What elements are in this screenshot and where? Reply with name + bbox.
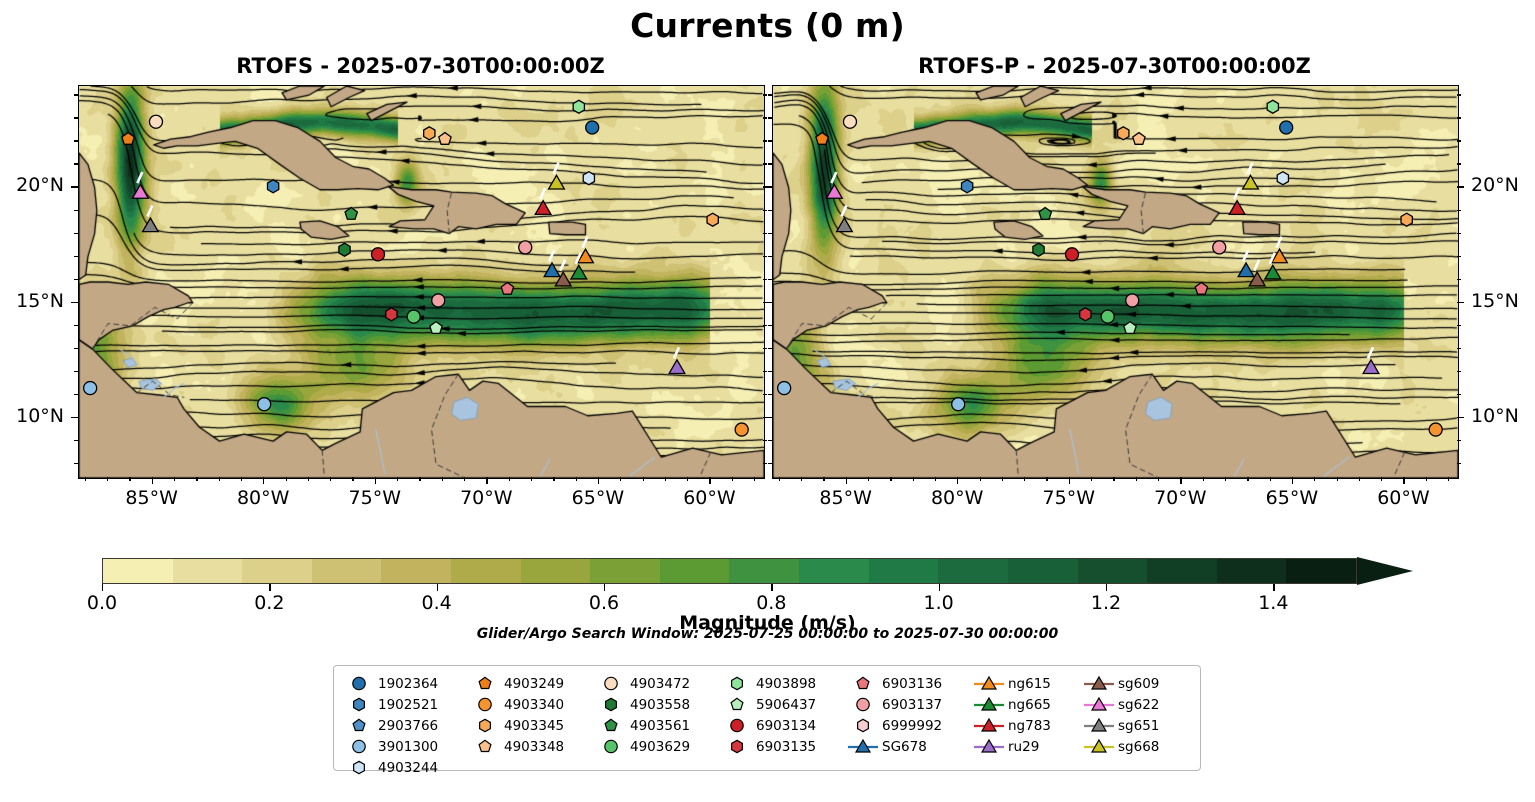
argo-marker-icon bbox=[468, 715, 502, 736]
legend-label: sg622 bbox=[1116, 697, 1159, 713]
glider-track bbox=[1368, 347, 1373, 358]
legend-column-0: 19023641902521290376639013004903244 bbox=[342, 673, 468, 778]
y-tick-minor bbox=[71, 302, 78, 303]
argo-marker-icon bbox=[342, 736, 376, 757]
colorbar-band-9 bbox=[729, 559, 799, 583]
legend-item-6999992[interactable]: 6999992 bbox=[846, 715, 972, 736]
y-tick-minor bbox=[768, 256, 772, 257]
argo-marker-icon bbox=[342, 757, 376, 778]
x-tick-minor bbox=[1203, 477, 1204, 481]
y-tick-minor bbox=[768, 348, 772, 349]
map-marker-sg651[interactable] bbox=[837, 206, 853, 232]
map-marker-ru29[interactable] bbox=[1363, 347, 1379, 373]
x-tick-label: 70°W bbox=[1135, 487, 1225, 509]
map-marker-1902364[interactable] bbox=[586, 121, 599, 134]
y-tick-minor bbox=[74, 117, 78, 118]
y-tick-minor bbox=[1457, 417, 1464, 418]
legend-label: 6903136 bbox=[880, 676, 942, 692]
x-tick-minor bbox=[219, 477, 220, 481]
map-marker-6903136[interactable] bbox=[1195, 282, 1207, 294]
x-tick-label: 70°W bbox=[441, 487, 531, 509]
y-tick-minor bbox=[765, 302, 772, 303]
argo-marker-icon bbox=[468, 736, 502, 757]
y-tick-minor bbox=[1457, 394, 1461, 395]
y-tick-minor bbox=[74, 463, 78, 464]
legend-item-6903134[interactable]: 6903134 bbox=[720, 715, 846, 736]
x-tick-label: 85°W bbox=[801, 487, 891, 509]
colorbar-band-2 bbox=[242, 559, 312, 583]
y-tick-minor bbox=[763, 163, 767, 164]
map-marker-4903561[interactable] bbox=[1039, 207, 1051, 219]
colorbar-band-17 bbox=[1286, 559, 1356, 583]
legend-label: 4903629 bbox=[628, 739, 690, 755]
x-tick-minor bbox=[1136, 477, 1137, 481]
legend-label: 5906437 bbox=[754, 697, 816, 713]
map-marker-6903134[interactable] bbox=[1065, 248, 1078, 261]
colorbar-tick bbox=[1106, 584, 1107, 591]
map-marker-1902521[interactable] bbox=[267, 180, 278, 193]
map-marker-4903340[interactable] bbox=[735, 423, 748, 436]
colorbar-tick-label: 0.0 bbox=[57, 592, 147, 614]
legend-item-4903340[interactable]: 4903340 bbox=[468, 694, 594, 715]
glider-track bbox=[540, 188, 545, 199]
x-tick-minor bbox=[1002, 477, 1003, 481]
legend-label: 4903558 bbox=[628, 697, 690, 713]
colorbar-band-5 bbox=[451, 559, 521, 583]
map-marker-4903249[interactable] bbox=[816, 133, 828, 145]
glider-track bbox=[1243, 250, 1248, 261]
legend-item-4903249[interactable]: 4903249 bbox=[468, 673, 594, 694]
x-tick-minor bbox=[352, 477, 353, 481]
legend-label: sg668 bbox=[1116, 739, 1159, 755]
x-tick-minor bbox=[1426, 477, 1427, 481]
map-marker-sg668[interactable] bbox=[549, 163, 565, 189]
y-tick-minor bbox=[1457, 186, 1464, 187]
x-tick-minor bbox=[397, 477, 398, 481]
map-marker-4903244[interactable] bbox=[583, 172, 594, 185]
glider-track bbox=[1254, 260, 1259, 271]
x-tick-minor bbox=[732, 477, 733, 481]
y-tick-label: 20°N bbox=[1471, 174, 1535, 196]
y-tick-minor bbox=[763, 94, 767, 95]
y-tick-minor bbox=[763, 256, 767, 257]
y-tick-minor bbox=[74, 440, 78, 441]
map-marker-5906437[interactable] bbox=[430, 322, 442, 334]
x-tick-minor bbox=[308, 477, 309, 481]
glider-track bbox=[674, 347, 679, 358]
x-tick-minor bbox=[330, 477, 331, 481]
x-tick-minor bbox=[980, 477, 981, 481]
argo-marker-icon bbox=[342, 694, 376, 715]
y-tick-minor bbox=[763, 394, 767, 395]
colorbar-tick-label: 0.2 bbox=[224, 592, 314, 614]
x-tick-minor bbox=[913, 477, 914, 481]
legend-item-4903898[interactable]: 4903898 bbox=[720, 673, 846, 694]
y-tick-minor bbox=[763, 210, 767, 211]
y-tick-minor bbox=[1457, 210, 1461, 211]
map-marker-6903135[interactable] bbox=[1080, 308, 1091, 321]
x-tick-minor bbox=[464, 477, 465, 481]
x-tick-minor bbox=[85, 477, 86, 481]
map-marker-ng783[interactable] bbox=[1229, 188, 1245, 214]
y-tick-minor bbox=[74, 325, 78, 326]
legend-label: 4903472 bbox=[628, 676, 690, 692]
glider-marker-icon bbox=[972, 694, 1006, 715]
x-tick-minor bbox=[375, 477, 376, 484]
legend-label: ng615 bbox=[1006, 676, 1051, 692]
y-tick-minor bbox=[768, 94, 772, 95]
legend-label: ru29 bbox=[1006, 739, 1039, 755]
map-marker-4903345[interactable] bbox=[1118, 127, 1129, 140]
colorbar-band-12 bbox=[938, 559, 1008, 583]
colorbar-tick bbox=[1273, 584, 1274, 591]
x-tick-minor bbox=[935, 477, 936, 481]
legend-label: 2903766 bbox=[376, 718, 438, 734]
y-tick-label: 20°N bbox=[0, 174, 64, 196]
y-tick-minor bbox=[1457, 325, 1461, 326]
map-marker-4903249[interactable] bbox=[122, 133, 134, 145]
x-tick-minor bbox=[1113, 477, 1114, 481]
legend-item-ru29[interactable]: ru29 bbox=[972, 736, 1082, 757]
x-tick-minor bbox=[1069, 477, 1070, 484]
map-marker-ru29[interactable] bbox=[669, 347, 685, 373]
map-marker-sg622[interactable] bbox=[826, 172, 842, 198]
y-tick-minor bbox=[1457, 348, 1461, 349]
y-tick-minor bbox=[74, 163, 78, 164]
legend-label: 6903135 bbox=[754, 739, 816, 755]
legend-item-4903472[interactable]: 4903472 bbox=[594, 673, 720, 694]
argo-marker-icon bbox=[594, 694, 628, 715]
legend-label: 4903561 bbox=[628, 718, 690, 734]
argo-marker-icon bbox=[594, 736, 628, 757]
legend-column-2: 4903472490355849035614903629 bbox=[594, 673, 720, 778]
map-marker-4903348[interactable] bbox=[439, 133, 451, 145]
map-marker-4903244[interactable] bbox=[1277, 172, 1288, 185]
y-tick-minor bbox=[768, 233, 772, 234]
glider-marker-icon bbox=[1082, 715, 1116, 736]
legend-label: 4903249 bbox=[502, 676, 564, 692]
y-tick-minor bbox=[1457, 371, 1461, 372]
map-marker-6903137b[interactable] bbox=[1126, 294, 1139, 307]
legend-label: 4903348 bbox=[502, 739, 564, 755]
x-tick-minor bbox=[643, 477, 644, 481]
map-marker-4903898[interactable] bbox=[573, 100, 584, 113]
y-tick-minor bbox=[763, 325, 767, 326]
x-tick-minor bbox=[553, 477, 554, 481]
legend-label: sg651 bbox=[1116, 718, 1159, 734]
legend-column-5: ng615ng665ng783ru29 bbox=[972, 673, 1082, 778]
x-tick-minor bbox=[509, 477, 510, 481]
y-tick-minor bbox=[763, 117, 767, 118]
colorbar-tick bbox=[771, 584, 772, 591]
x-tick-minor bbox=[1247, 477, 1248, 481]
y-tick-minor bbox=[1457, 140, 1461, 141]
legend-column-4: 690313669031376999992SG678 bbox=[846, 673, 972, 778]
y-tick-minor bbox=[763, 463, 767, 464]
map-marker-4903340[interactable] bbox=[1429, 423, 1442, 436]
y-tick-minor bbox=[763, 140, 767, 141]
colorbar-tick-label: 0.6 bbox=[559, 592, 649, 614]
colorbar-tick-label: 1.2 bbox=[1061, 592, 1151, 614]
colorbar-tick bbox=[269, 584, 270, 591]
map-marker-1902521[interactable] bbox=[961, 180, 972, 193]
map-marker-4903345b[interactable] bbox=[707, 213, 718, 226]
glider-track bbox=[582, 237, 587, 248]
legend-item-6903136[interactable]: 6903136 bbox=[846, 673, 972, 694]
x-tick-label: 60°W bbox=[1358, 487, 1448, 509]
x-tick-minor bbox=[620, 477, 621, 481]
y-tick-minor bbox=[768, 440, 772, 441]
glider-marker-icon bbox=[1082, 736, 1116, 757]
y-tick-minor bbox=[768, 163, 772, 164]
x-tick-minor bbox=[1314, 477, 1315, 481]
legend-item-4903348[interactable]: 4903348 bbox=[468, 736, 594, 757]
legend-label: 4903898 bbox=[754, 676, 816, 692]
legend-item-3901300[interactable]: 3901300 bbox=[342, 736, 468, 757]
colorbar-band-4 bbox=[381, 559, 451, 583]
colorbar-band-8 bbox=[660, 559, 730, 583]
x-tick-minor bbox=[1180, 477, 1181, 484]
colorbar-band-1 bbox=[173, 559, 243, 583]
y-tick-minor bbox=[1457, 440, 1461, 441]
argo-marker-icon bbox=[594, 715, 628, 736]
legend-item-sg668[interactable]: sg668 bbox=[1082, 736, 1192, 757]
argo-marker-icon bbox=[720, 673, 754, 694]
x-tick-minor bbox=[665, 477, 666, 481]
legend-item-ng783[interactable]: ng783 bbox=[972, 715, 1082, 736]
x-tick-minor bbox=[1225, 477, 1226, 481]
x-tick-minor bbox=[576, 477, 577, 481]
colorbar bbox=[102, 558, 1413, 584]
x-tick-minor bbox=[1403, 477, 1404, 484]
x-tick-minor bbox=[1381, 477, 1382, 481]
y-tick-minor bbox=[763, 371, 767, 372]
map-marker-4903561[interactable] bbox=[345, 207, 357, 219]
y-tick-minor bbox=[1457, 233, 1461, 234]
glider-marker-icon bbox=[846, 736, 880, 757]
map-marker-4903898[interactable] bbox=[1267, 100, 1278, 113]
x-tick-minor bbox=[823, 477, 824, 481]
y-tick-minor bbox=[768, 210, 772, 211]
y-tick-minor bbox=[763, 233, 767, 234]
legend-label: 6903134 bbox=[754, 718, 816, 734]
x-tick-minor bbox=[957, 477, 958, 484]
x-tick-label: 65°W bbox=[1247, 487, 1337, 509]
x-tick-minor bbox=[1046, 477, 1047, 481]
map-marker-4903629[interactable] bbox=[1101, 310, 1114, 323]
map-marker-overlay bbox=[79, 86, 764, 478]
glider-track bbox=[553, 163, 558, 174]
y-tick-minor bbox=[768, 279, 772, 280]
legend-item-1902521[interactable]: 1902521 bbox=[342, 694, 468, 715]
map-marker-3901300b[interactable] bbox=[952, 398, 965, 411]
map-marker-4903345b[interactable] bbox=[1401, 213, 1412, 226]
map-marker-4903472[interactable] bbox=[149, 115, 162, 128]
legend-item-4903629[interactable]: 4903629 bbox=[594, 736, 720, 757]
glider-marker-icon bbox=[972, 715, 1006, 736]
colorbar-tick bbox=[939, 584, 940, 591]
map-marker-6903134[interactable] bbox=[371, 248, 384, 261]
map-marker-6903135[interactable] bbox=[386, 308, 397, 321]
map-marker-sg651[interactable] bbox=[143, 206, 159, 232]
y-tick-label: 10°N bbox=[1471, 405, 1535, 427]
map-marker-ng783[interactable] bbox=[535, 188, 551, 214]
legend-column-3: 4903898590643769031346903135 bbox=[720, 673, 846, 778]
legend-item-sg651[interactable]: sg651 bbox=[1082, 715, 1192, 736]
x-tick-minor bbox=[1337, 477, 1338, 481]
legend-item-sg609[interactable]: sg609 bbox=[1082, 673, 1192, 694]
colorbar-band-3 bbox=[312, 559, 382, 583]
colorbar-extend-arrow bbox=[1357, 557, 1413, 585]
y-tick-minor bbox=[768, 325, 772, 326]
map-marker-3901300[interactable] bbox=[778, 382, 791, 395]
panel-title-rtofs: RTOFS - 2025-07-30T00:00:00Z bbox=[78, 54, 763, 78]
x-tick-minor bbox=[1292, 477, 1293, 484]
map-marker-6903137b[interactable] bbox=[432, 294, 445, 307]
x-tick-minor bbox=[1024, 477, 1025, 481]
colorbar-band-11 bbox=[869, 559, 939, 583]
legend-label: ng665 bbox=[1006, 697, 1051, 713]
glider-track bbox=[137, 172, 142, 183]
map-marker-sg668[interactable] bbox=[1243, 163, 1259, 189]
map-marker-6903136[interactable] bbox=[501, 282, 513, 294]
map-panel-rtofs[interactable] bbox=[78, 85, 765, 479]
y-tick-label: 10°N bbox=[0, 405, 64, 427]
y-tick-minor bbox=[1457, 279, 1461, 280]
legend-label: 1902364 bbox=[376, 676, 438, 692]
legend-item-4903561[interactable]: 4903561 bbox=[594, 715, 720, 736]
y-tick-minor bbox=[768, 140, 772, 141]
colorbar-tick-label: 0.4 bbox=[392, 592, 482, 614]
legend-label: sg609 bbox=[1116, 676, 1159, 692]
argo-marker-icon bbox=[720, 715, 754, 736]
x-tick-minor bbox=[801, 477, 802, 481]
legend-item-sg622[interactable]: sg622 bbox=[1082, 694, 1192, 715]
y-tick-minor bbox=[763, 440, 767, 441]
x-tick-label: 75°W bbox=[1024, 487, 1114, 509]
map-marker-ng615[interactable] bbox=[578, 237, 594, 263]
map-marker-5906437[interactable] bbox=[1124, 322, 1136, 334]
y-tick-minor bbox=[71, 186, 78, 187]
map-marker-SG678[interactable] bbox=[544, 250, 560, 276]
y-tick-minor bbox=[768, 463, 772, 464]
y-tick-minor bbox=[1457, 463, 1461, 464]
legend-item-4903345[interactable]: 4903345 bbox=[468, 715, 594, 736]
map-marker-sg622[interactable] bbox=[132, 172, 148, 198]
y-tick-minor bbox=[765, 186, 772, 187]
map-marker-4903558[interactable] bbox=[339, 243, 350, 256]
page-title: Currents (0 m) bbox=[0, 6, 1535, 45]
x-tick-minor bbox=[174, 477, 175, 481]
map-marker-SG678[interactable] bbox=[1238, 250, 1254, 276]
map-marker-4903472[interactable] bbox=[843, 115, 856, 128]
map-panel-rtofs-p[interactable] bbox=[772, 85, 1459, 479]
x-tick-label: 60°W bbox=[664, 487, 754, 509]
argo-marker-icon bbox=[468, 673, 502, 694]
panel-title-rtofs-p: RTOFS-P - 2025-07-30T00:00:00Z bbox=[772, 54, 1457, 78]
map-marker-ng615[interactable] bbox=[1272, 237, 1288, 263]
argo-marker-icon bbox=[594, 673, 628, 694]
colorbar-band-10 bbox=[799, 559, 869, 583]
y-tick-minor bbox=[1457, 163, 1461, 164]
legend-column-6: sg609sg622sg651sg668 bbox=[1082, 673, 1192, 778]
colorbar-tick bbox=[437, 584, 438, 591]
map-marker-6903137[interactable] bbox=[519, 241, 532, 254]
y-tick-minor bbox=[1457, 94, 1461, 95]
x-tick-label: 80°W bbox=[218, 487, 308, 509]
colorbar-tick-label: 1.4 bbox=[1228, 592, 1318, 614]
y-tick-minor bbox=[71, 417, 78, 418]
x-tick-minor bbox=[868, 477, 869, 481]
map-marker-4903629[interactable] bbox=[407, 310, 420, 323]
x-tick-minor bbox=[196, 477, 197, 481]
legend-label: 4903340 bbox=[502, 697, 564, 713]
legend-label: 3901300 bbox=[376, 739, 438, 755]
y-tick-minor bbox=[74, 348, 78, 349]
legend-label: ng783 bbox=[1006, 718, 1051, 734]
legend-item-5906437[interactable]: 5906437 bbox=[720, 694, 846, 715]
legend-item-1902364[interactable]: 1902364 bbox=[342, 673, 468, 694]
map-marker-4903345[interactable] bbox=[424, 127, 435, 140]
colorbar-band-15 bbox=[1147, 559, 1217, 583]
y-tick-minor bbox=[763, 348, 767, 349]
legend-item-2903766[interactable]: 2903766 bbox=[342, 715, 468, 736]
legend-item-4903558[interactable]: 4903558 bbox=[594, 694, 720, 715]
y-tick-minor bbox=[768, 371, 772, 372]
colorbar-tick bbox=[604, 584, 605, 591]
y-tick-minor bbox=[74, 394, 78, 395]
argo-marker-icon bbox=[342, 673, 376, 694]
colorbar-band-7 bbox=[590, 559, 660, 583]
y-tick-minor bbox=[74, 94, 78, 95]
map-marker-overlay bbox=[773, 86, 1458, 478]
map-marker-3901300b[interactable] bbox=[258, 398, 271, 411]
argo-marker-icon bbox=[720, 736, 754, 757]
glider-marker-icon bbox=[972, 736, 1006, 757]
x-tick-minor bbox=[263, 477, 264, 484]
y-tick-minor bbox=[74, 256, 78, 257]
y-tick-label: 15°N bbox=[1471, 290, 1535, 312]
x-tick-minor bbox=[890, 477, 891, 481]
glider-marker-icon bbox=[972, 673, 1006, 694]
y-tick-minor bbox=[763, 279, 767, 280]
argo-marker-icon bbox=[342, 715, 376, 736]
x-tick-label: 80°W bbox=[912, 487, 1002, 509]
map-marker-4903558[interactable] bbox=[1033, 243, 1044, 256]
map-marker-3901300[interactable] bbox=[84, 382, 97, 395]
legend-item-6903137[interactable]: 6903137 bbox=[846, 694, 972, 715]
y-tick-minor bbox=[1457, 117, 1461, 118]
x-tick-minor bbox=[598, 477, 599, 484]
map-marker-4903348[interactable] bbox=[1133, 133, 1145, 145]
legend-label: 6999992 bbox=[880, 718, 942, 734]
legend-item-SG678[interactable]: SG678 bbox=[846, 736, 972, 757]
x-tick-minor bbox=[286, 477, 287, 481]
legend-item-ng665[interactable]: ng665 bbox=[972, 694, 1082, 715]
map-marker-1902364[interactable] bbox=[1280, 121, 1293, 134]
glider-track bbox=[1276, 237, 1281, 248]
y-tick-label: 15°N bbox=[0, 290, 64, 312]
colorbar-tick-label: 1.0 bbox=[894, 592, 984, 614]
y-tick-minor bbox=[74, 279, 78, 280]
legend-item-6903135[interactable]: 6903135 bbox=[720, 736, 846, 757]
glider-track bbox=[147, 206, 152, 217]
map-marker-6903137[interactable] bbox=[1213, 241, 1226, 254]
x-tick-minor bbox=[1091, 477, 1092, 481]
legend-item-ng615[interactable]: ng615 bbox=[972, 673, 1082, 694]
legend-item-4903244[interactable]: 4903244 bbox=[342, 757, 468, 778]
argo-marker-icon bbox=[846, 715, 880, 736]
